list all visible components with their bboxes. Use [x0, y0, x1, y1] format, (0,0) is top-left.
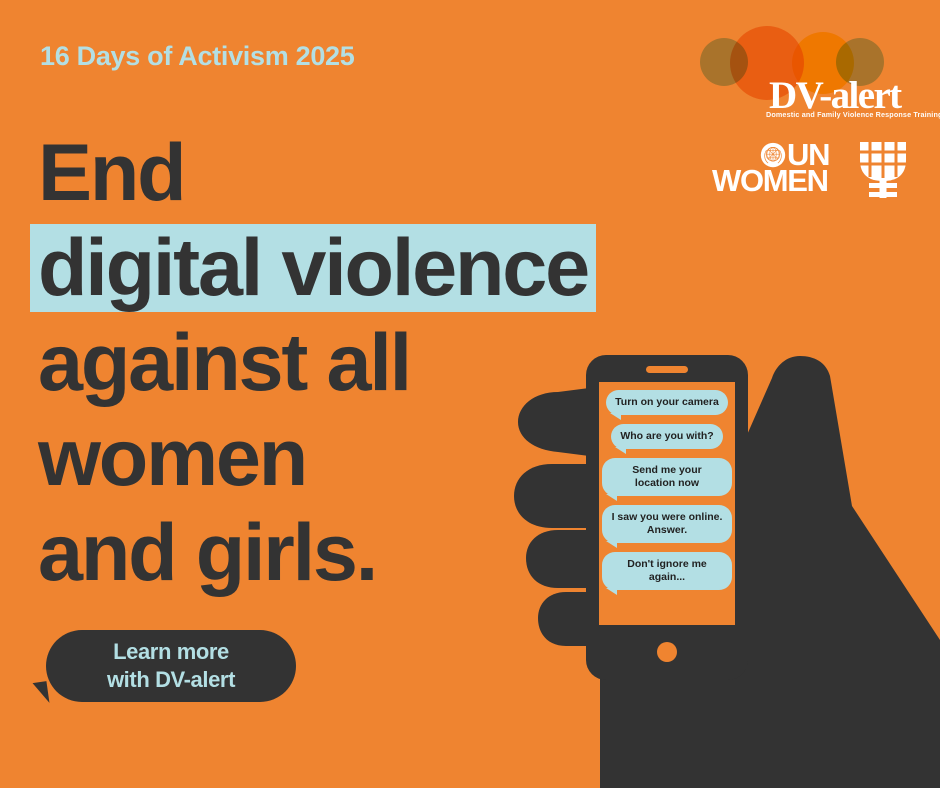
- cta-line-1: Learn more: [113, 638, 229, 666]
- message-bubble: Turn on your camera: [606, 390, 728, 415]
- phone-home-button-icon[interactable]: [657, 642, 677, 662]
- un-women-symbol-icon: [857, 140, 909, 198]
- message-bubble: Don't ignore me again...: [602, 552, 732, 590]
- message-bubble: Who are you with?: [611, 424, 722, 449]
- cta-line-2: with DV-alert: [107, 666, 235, 694]
- un-women-logo: UN WOMEN: [712, 139, 908, 201]
- learn-more-button[interactable]: Learn more with DV-alert: [46, 630, 296, 702]
- message-list: Turn on your cameraWho are you with?Send…: [599, 390, 735, 599]
- message-bubble: Send me your location now: [602, 458, 732, 496]
- speech-bubble-tail-icon: [33, 681, 50, 705]
- phone-screen: Turn on your cameraWho are you with?Send…: [599, 382, 735, 625]
- dv-alert-logo: DV-alert Domestic and Family Violence Re…: [694, 26, 906, 126]
- un-women-line2: WOMEN: [712, 165, 828, 196]
- campaign-label: 16 Days of Activism 2025: [40, 41, 354, 72]
- poster-canvas: 16 Days of Activism 2025 DV-alert Domest…: [0, 0, 940, 788]
- phone-speaker-icon: [646, 366, 688, 373]
- smartphone: Turn on your cameraWho are you with?Send…: [586, 355, 748, 680]
- headline-line-1: End: [38, 126, 658, 221]
- message-bubble: I saw you were online. Answer.: [602, 505, 732, 543]
- headline-line-2-highlight: digital violence: [30, 224, 596, 312]
- dv-alert-tagline: Domestic and Family Violence Response Tr…: [766, 110, 940, 119]
